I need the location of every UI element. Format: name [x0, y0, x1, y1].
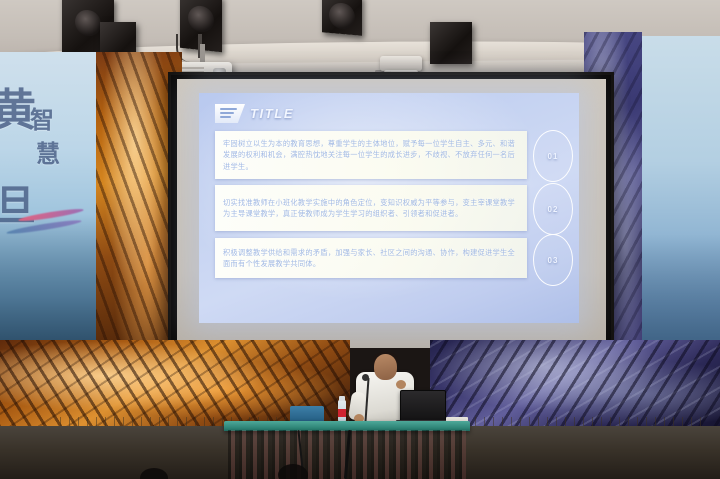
calligraphy-zhi: 智 [30, 100, 55, 135]
calligraphy-partial-2: 旦 [0, 172, 37, 233]
lecture-hall-photo: 黄 旦 智 慧 TITLE 牢固树立以生为本的教育思想，尊重学生的主体地位，赋予… [0, 0, 720, 479]
water-bottle-label [338, 409, 346, 417]
presenter-head [374, 354, 397, 380]
presenter-hand [396, 380, 406, 389]
audience-head-silhouette [278, 464, 308, 479]
ceiling-speaker-icon [430, 22, 472, 64]
slide-row-badge: 03 [533, 234, 573, 286]
slide-row: 积极调整教学供给和需求的矛盾，加强与家长、社区之间的沟通、协作，构建促进学生全面… [215, 238, 527, 278]
projector-mount [200, 44, 205, 62]
ceiling-speaker-icon [322, 0, 362, 36]
slide-row: 牢固树立以生为本的教育思想，尊重学生的主体地位，赋予每一位学生自主、多元、和谐发… [215, 131, 527, 179]
list-flag-icon [215, 104, 245, 123]
screen-surface: TITLE 牢固树立以生为本的教育思想，尊重学生的主体地位，赋予每一位学生自主、… [177, 79, 606, 353]
slide-row-text: 牢固树立以生为本的教育思想，尊重学生的主体地位，赋予每一位学生自主、多元、和谐发… [215, 133, 527, 178]
blue-equipment-box [290, 406, 324, 422]
water-bottle-cap [339, 396, 345, 401]
projection-screen: TITLE 牢固树立以生为本的教育思想，尊重学生的主体地位，赋予每一位学生自主、… [168, 72, 614, 366]
laptop-screen[interactable] [400, 390, 446, 424]
calligraphy-hui: 慧 [36, 134, 61, 169]
microphone-icon [362, 374, 369, 381]
slide-row-badge: 02 [533, 183, 573, 235]
right-blue-landscape-panel [642, 36, 720, 366]
slide-row-text: 积极调整教学供给和需求的矛盾，加强与家长、社区之间的沟通、协作，构建促进学生全面… [215, 242, 527, 275]
slide-title: TITLE [250, 106, 294, 121]
slide-title-row: TITLE [215, 104, 294, 123]
slide-row: 切实找准教师在小班化教学实施中的角色定位，变知识权威为平等参与，变主宰课堂教学为… [215, 185, 527, 231]
slide-row-badge: 01 [533, 130, 573, 182]
ceiling-sensor-box [380, 56, 422, 71]
slide-row-text: 切实找准教师在小班化教学实施中的角色定位，变知识权威为平等参与，变主宰课堂教学为… [215, 192, 527, 225]
projected-slide: TITLE 牢固树立以生为本的教育思想，尊重学生的主体地位，赋予每一位学生自主、… [199, 93, 579, 323]
left-blue-landscape-panel: 黄 旦 智 慧 [0, 52, 96, 352]
ribbon-decoration [6, 218, 82, 236]
